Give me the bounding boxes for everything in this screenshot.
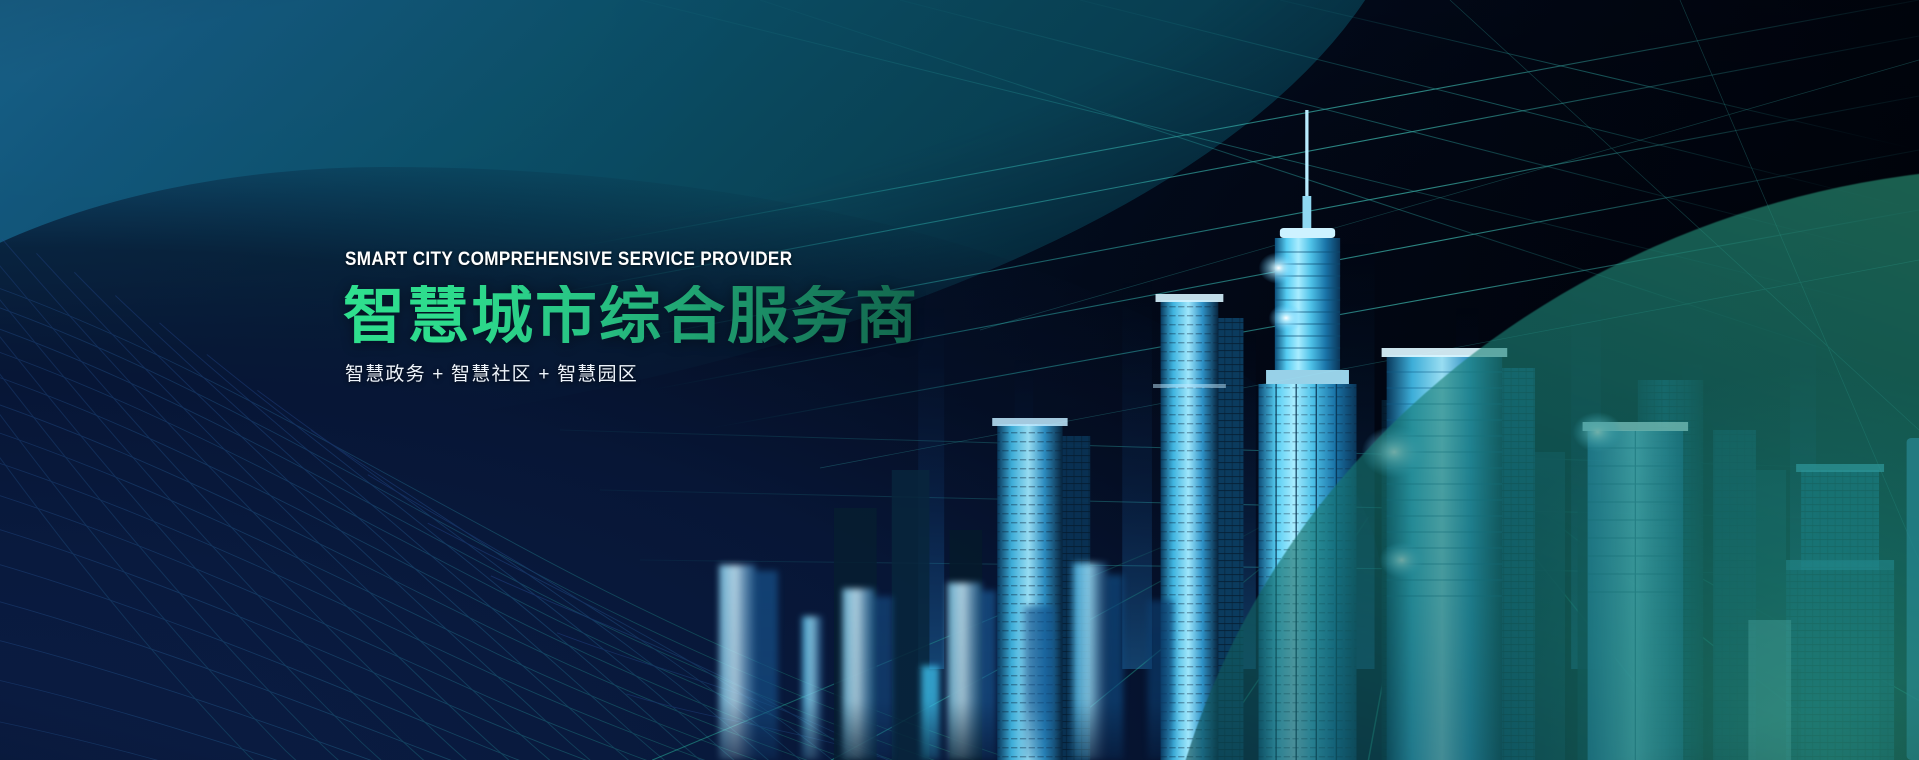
smart-city-hero-banner: SMART CITY COMPREHENSIVE SERVICE PROVIDE… — [0, 0, 1919, 760]
hero-eyebrow-english: SMART CITY COMPREHENSIVE SERVICE PROVIDE… — [345, 250, 862, 269]
green-glow-accent — [1382, 334, 1919, 760]
page-title: 智慧城市综合服务商 — [343, 285, 919, 349]
hero-subtitle-services: 智慧政务 + 智慧社区 + 智慧园区 — [345, 365, 919, 384]
hero-copy-block: SMART CITY COMPREHENSIVE SERVICE PROVIDE… — [343, 250, 919, 384]
